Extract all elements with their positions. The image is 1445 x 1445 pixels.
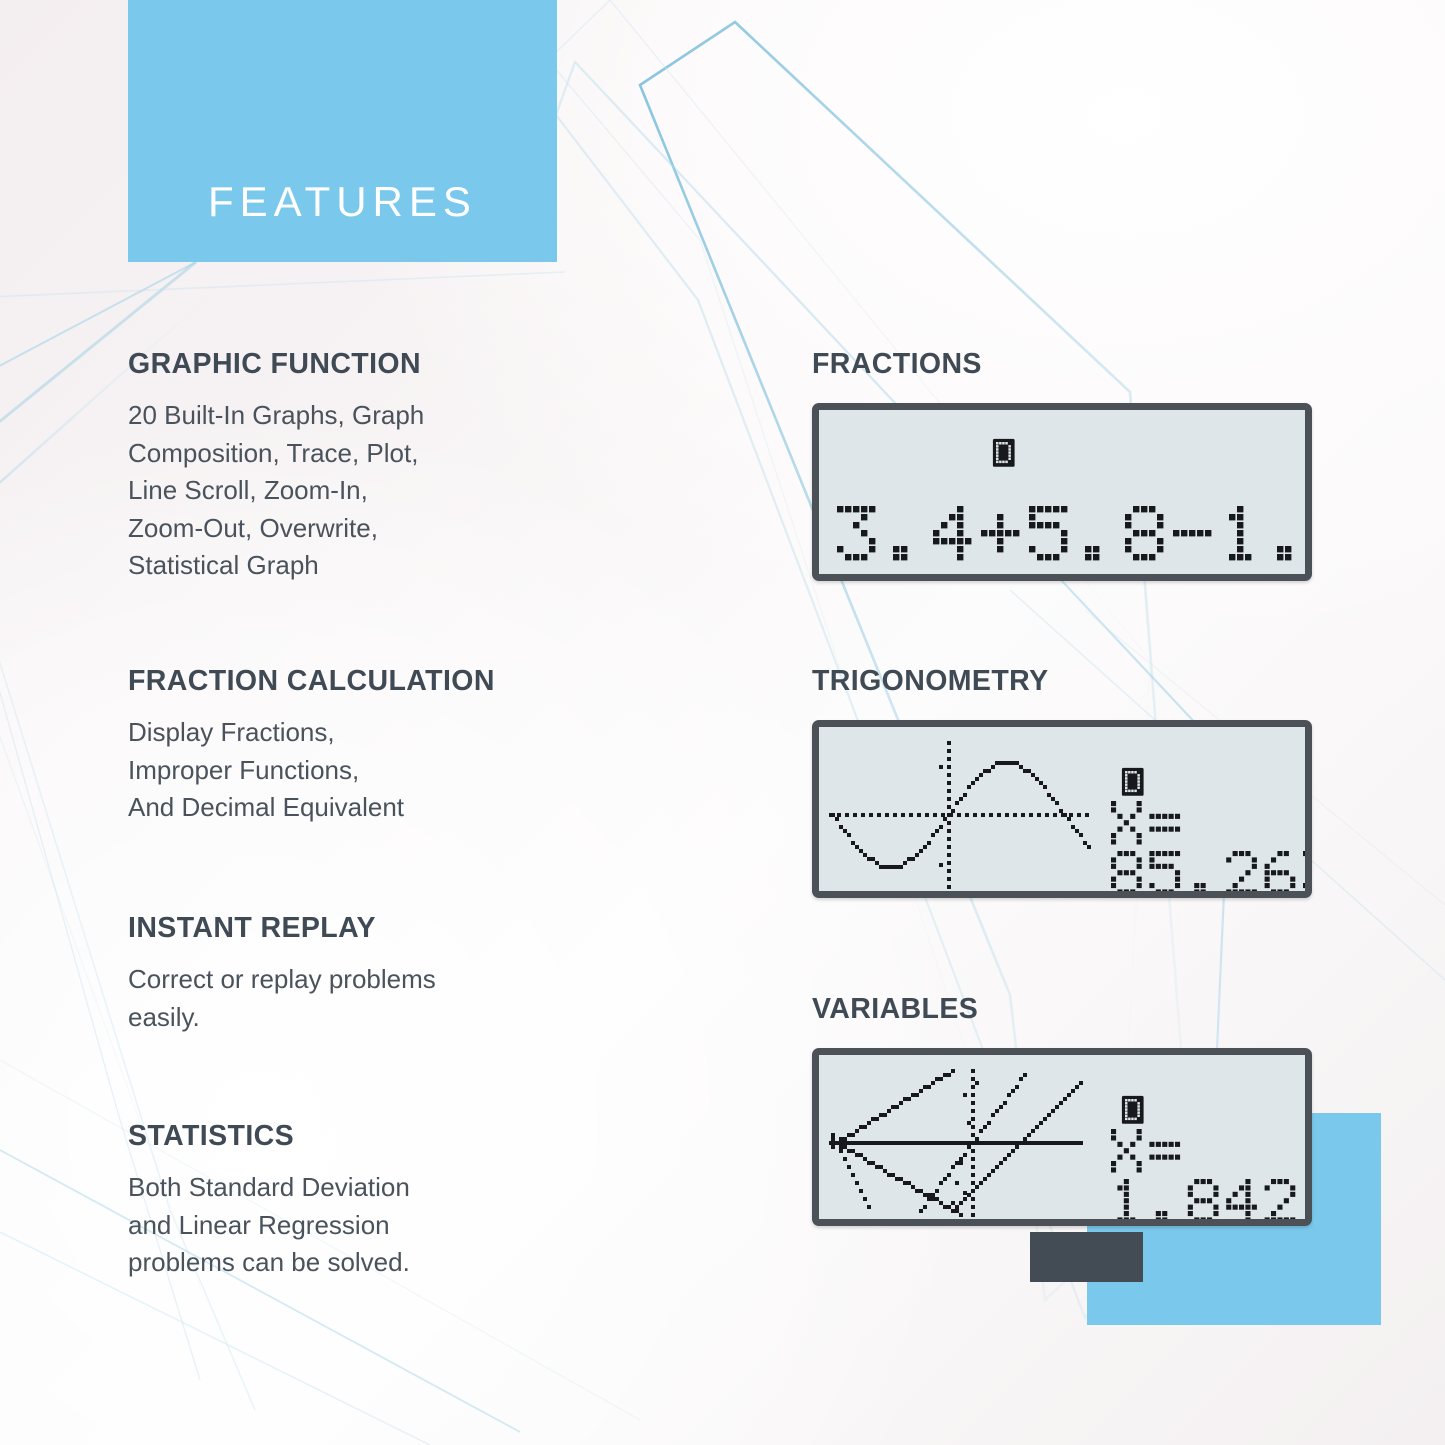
display-title: VARIABLES <box>812 993 1312 1026</box>
feature-title: STATISTICS <box>128 1120 728 1153</box>
display-block-variables: VARIABLES <box>812 993 1312 1226</box>
display-block-fractions: FRACTIONS <box>812 348 1312 581</box>
feature-body: Both Standard Deviation and Linear Regre… <box>128 1169 728 1282</box>
feature-item-fraction-calculation: FRACTION CALCULATION Display Fractions, … <box>128 665 728 827</box>
page-title: FEATURES <box>208 178 477 226</box>
feature-title: GRAPHIC FUNCTION <box>128 348 728 381</box>
feature-body: 20 Built-In Graphs, Graph Composition, T… <box>128 397 728 585</box>
lcd-pixels-trigonometry <box>819 727 1305 891</box>
feature-title: FRACTION CALCULATION <box>128 665 728 698</box>
feature-item-graphic-function: GRAPHIC FUNCTION 20 Built-In Graphs, Gra… <box>128 348 728 585</box>
lcd-pixels-fractions <box>819 410 1305 574</box>
feature-item-instant-replay: INSTANT REPLAY Correct or replay problem… <box>128 912 728 1036</box>
display-title: TRIGONOMETRY <box>812 665 1312 698</box>
display-block-trigonometry: TRIGONOMETRY <box>812 665 1312 898</box>
lcd-screen-trigonometry[interactable] <box>812 720 1312 898</box>
feature-body: Correct or replay problems easily. <box>128 961 728 1036</box>
calculator-body-tab <box>1030 1232 1143 1282</box>
display-title: FRACTIONS <box>812 348 1312 381</box>
feature-item-statistics: STATISTICS Both Standard Deviation and L… <box>128 1120 728 1282</box>
poster-canvas: FEATURES GRAPHIC FUNCTION 20 Built-In Gr… <box>0 0 1445 1445</box>
lcd-screen-variables[interactable] <box>812 1048 1312 1226</box>
lcd-pixels-variables <box>819 1055 1305 1219</box>
lcd-screen-fractions[interactable] <box>812 403 1312 581</box>
feature-body: Display Fractions, Improper Functions, A… <box>128 714 728 827</box>
feature-title: INSTANT REPLAY <box>128 912 728 945</box>
